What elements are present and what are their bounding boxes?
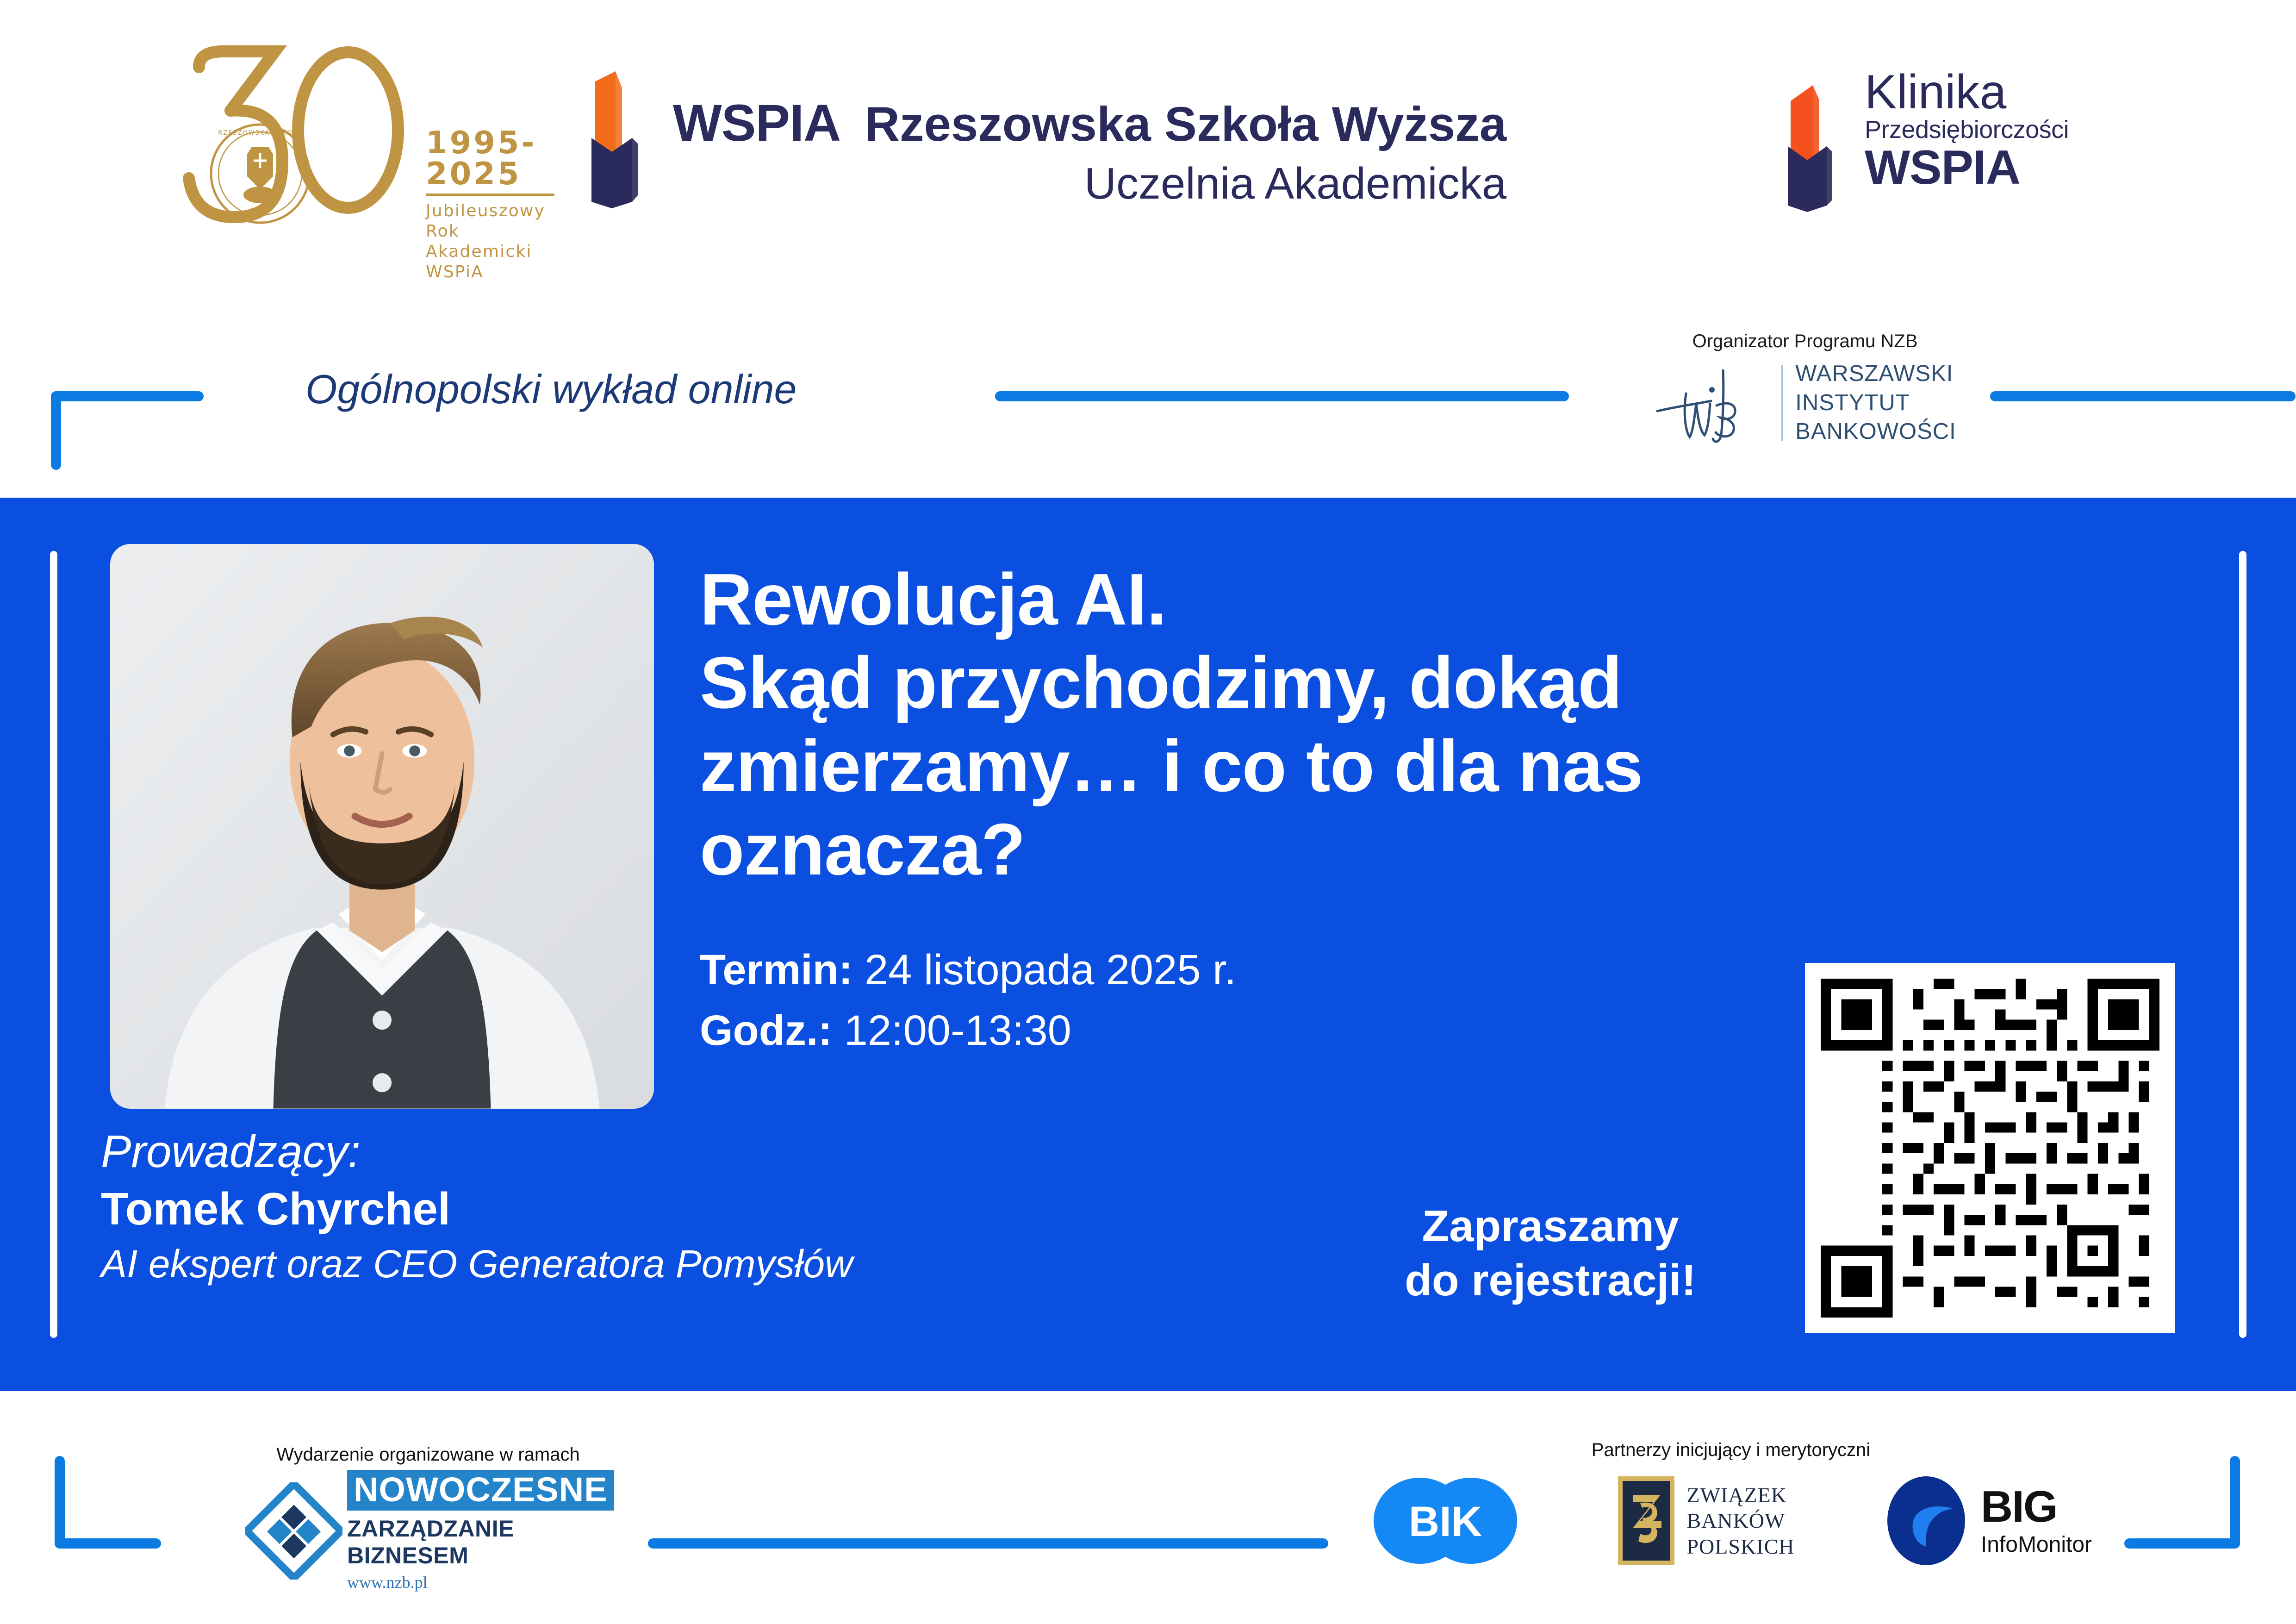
speaker-role: AI ekspert oraz CEO Generatora Pomysłów [101, 1240, 853, 1287]
zbp-line-2: BANKÓW [1686, 1508, 1794, 1533]
wib-divider [1781, 365, 1783, 441]
jubilee-line-3: WSPiA [426, 262, 565, 282]
footer-bracket-left-vertical [55, 1456, 65, 1549]
nzb-url: www.nzb.pl [347, 1573, 614, 1592]
panel-rail-right [2239, 551, 2246, 1338]
nzb-word-1: NOWOCZESNE [347, 1470, 614, 1511]
jubilee-years: 1995-2025 [426, 127, 565, 189]
klinika-line-1: Klinika [1865, 69, 2069, 116]
big-subtitle: InfoMonitor [1981, 1532, 2092, 1557]
event-time-label: Godz.: [700, 1007, 832, 1054]
speaker-name: Tomek Chyrchel [101, 1181, 853, 1237]
nzb-mark-icon [245, 1482, 342, 1580]
poster-root: 1995 RZESZOWSKA SZKOŁA 1995-2025 Jubileu… [0, 0, 2296, 1624]
partner-logo-zbp: ZWIĄZEK BANKÓW POLSKICH [1616, 1474, 1794, 1567]
partners-caption: Partnerzy inicjujący i merytoryczni [1370, 1440, 2092, 1461]
wib-signature-icon [1654, 361, 1769, 444]
nzb-caption: Wydarzenie organizowane w ramach [245, 1444, 611, 1465]
svg-text:BIK: BIK [1409, 1498, 1482, 1545]
title-line-4: oznacza? [700, 808, 1940, 891]
nzb-word-2: ZARZĄDZANIE BIZNESEM [347, 1515, 614, 1569]
title-line-3: zmierzamy… i co to dla nas [700, 725, 1940, 808]
registration-cta: Zapraszamy do rejestracji! [1368, 1199, 1733, 1307]
klinika-mark-icon [1784, 81, 1849, 216]
jubilee-logo: 1995 RZESZOWSKA SZKOŁA 1995-2025 Jubileu… [167, 39, 565, 257]
partners-block: Partnerzy inicjujący i merytoryczni BIK … [1370, 1440, 2092, 1567]
event-time-value: 12:00-13:30 [844, 1007, 1071, 1054]
jubilee-caption: 1995-2025 Jubileuszowy Rok Akademicki WS… [426, 127, 565, 282]
klinika-wordmark: Klinika Przedsiębiorczości WSPIA [1865, 69, 2069, 192]
speaker-lead-label: Prowadzący: [101, 1125, 853, 1179]
panel-rail-left [50, 551, 57, 1338]
wib-line-1: WARSZAWSKI [1795, 359, 1956, 388]
event-time-row: Godz.: 12:00-13:30 [700, 1000, 1236, 1061]
jubilee-divider [426, 194, 554, 196]
zbp-line-3: POLSKICH [1686, 1534, 1794, 1559]
big-title: BIG [1981, 1485, 2092, 1529]
big-wordmark: BIG InfoMonitor [1981, 1485, 2092, 1557]
wib-line-3: BANKOWOŚCI [1795, 417, 1956, 446]
cta-line-2: do rejestracji! [1368, 1253, 1733, 1307]
footer-bracket-right-vertical [2230, 1456, 2240, 1549]
event-date-row: Termin: 24 listopada 2025 r. [700, 940, 1236, 1000]
event-meta: Termin: 24 listopada 2025 r. Godz.: 12:0… [700, 940, 1236, 1061]
decor-bar-left-vertical [51, 391, 61, 470]
zbp-line-1: ZWIĄZEK [1686, 1482, 1794, 1508]
speaker-block: Prowadzący: Tomek Chyrchel AI ekspert or… [101, 1125, 853, 1288]
partner-logo-big-infomonitor: BIG InfoMonitor [1884, 1474, 2092, 1567]
wspia-logo: WSPIA Rzeszowska Szkoła Wyższa Uczelnia … [588, 60, 1506, 213]
lecture-title: Rewolucja AI. Skąd przychodzimy, dokąd z… [700, 558, 1940, 891]
qr-code[interactable] [1805, 963, 2175, 1333]
footer-bracket-left-horizontal [55, 1538, 161, 1549]
wspia-abbr: WSPIA [673, 93, 840, 153]
lecture-type-label: Ogólnopolski wykład online [305, 366, 797, 413]
nzb-logo-block: Wydarzenie organizowane w ramach NOWOCZE… [245, 1444, 611, 1592]
organizer-caption: Organizator Programu NZB [1634, 331, 1976, 352]
svg-text:RZESZOWSKA SZKOŁA: RZESZOWSKA SZKOŁA [218, 130, 302, 137]
jubilee-30-graphic: 1995 RZESZOWSKA SZKOŁA [167, 39, 417, 238]
klinika-logo: Klinika Przedsiębiorczości WSPIA [1784, 69, 2069, 216]
speaker-photo [110, 544, 654, 1109]
footer-bracket-right-horizontal [2124, 1538, 2240, 1549]
wib-logo-block: Organizator Programu NZB WARSZAWSKI [1634, 331, 1976, 446]
footer-bar-middle [648, 1538, 1328, 1549]
zbp-wordmark: ZWIĄZEK BANKÓW POLSKICH [1686, 1482, 1794, 1559]
decor-bar-middle [995, 391, 1569, 401]
svg-text:1995: 1995 [250, 206, 270, 216]
klinika-line-3: WSPIA [1865, 144, 2069, 192]
decor-bar-left [51, 391, 204, 401]
wspia-subtitle: Uczelnia Akademicka [673, 158, 1506, 209]
cta-line-1: Zapraszamy [1368, 1199, 1733, 1253]
wib-line-2: INSTYTUT [1795, 388, 1956, 418]
decor-bar-right [1990, 391, 2296, 401]
title-line-1: Rewolucja AI. [700, 558, 1940, 641]
wspia-fullname: Rzeszowska Szkoła Wyższa [865, 97, 1506, 152]
klinika-line-2: Przedsiębiorczości [1865, 116, 2069, 144]
jubilee-line-1: Jubileuszowy [426, 201, 565, 221]
wspia-mark-icon [588, 69, 657, 213]
wspia-wordmark: WSPIA Rzeszowska Szkoła Wyższa Uczelnia … [673, 93, 1506, 213]
wib-wordmark: WARSZAWSKI INSTYTUT BANKOWOŚCI [1795, 359, 1956, 446]
title-line-2: Skąd przychodzimy, dokąd [700, 641, 1940, 725]
jubilee-line-2: Rok Akademicki [426, 221, 565, 262]
event-date-value: 24 listopada 2025 r. [865, 946, 1236, 993]
partner-logo-bik: BIK [1370, 1477, 1527, 1565]
event-date-label: Termin: [700, 946, 853, 993]
